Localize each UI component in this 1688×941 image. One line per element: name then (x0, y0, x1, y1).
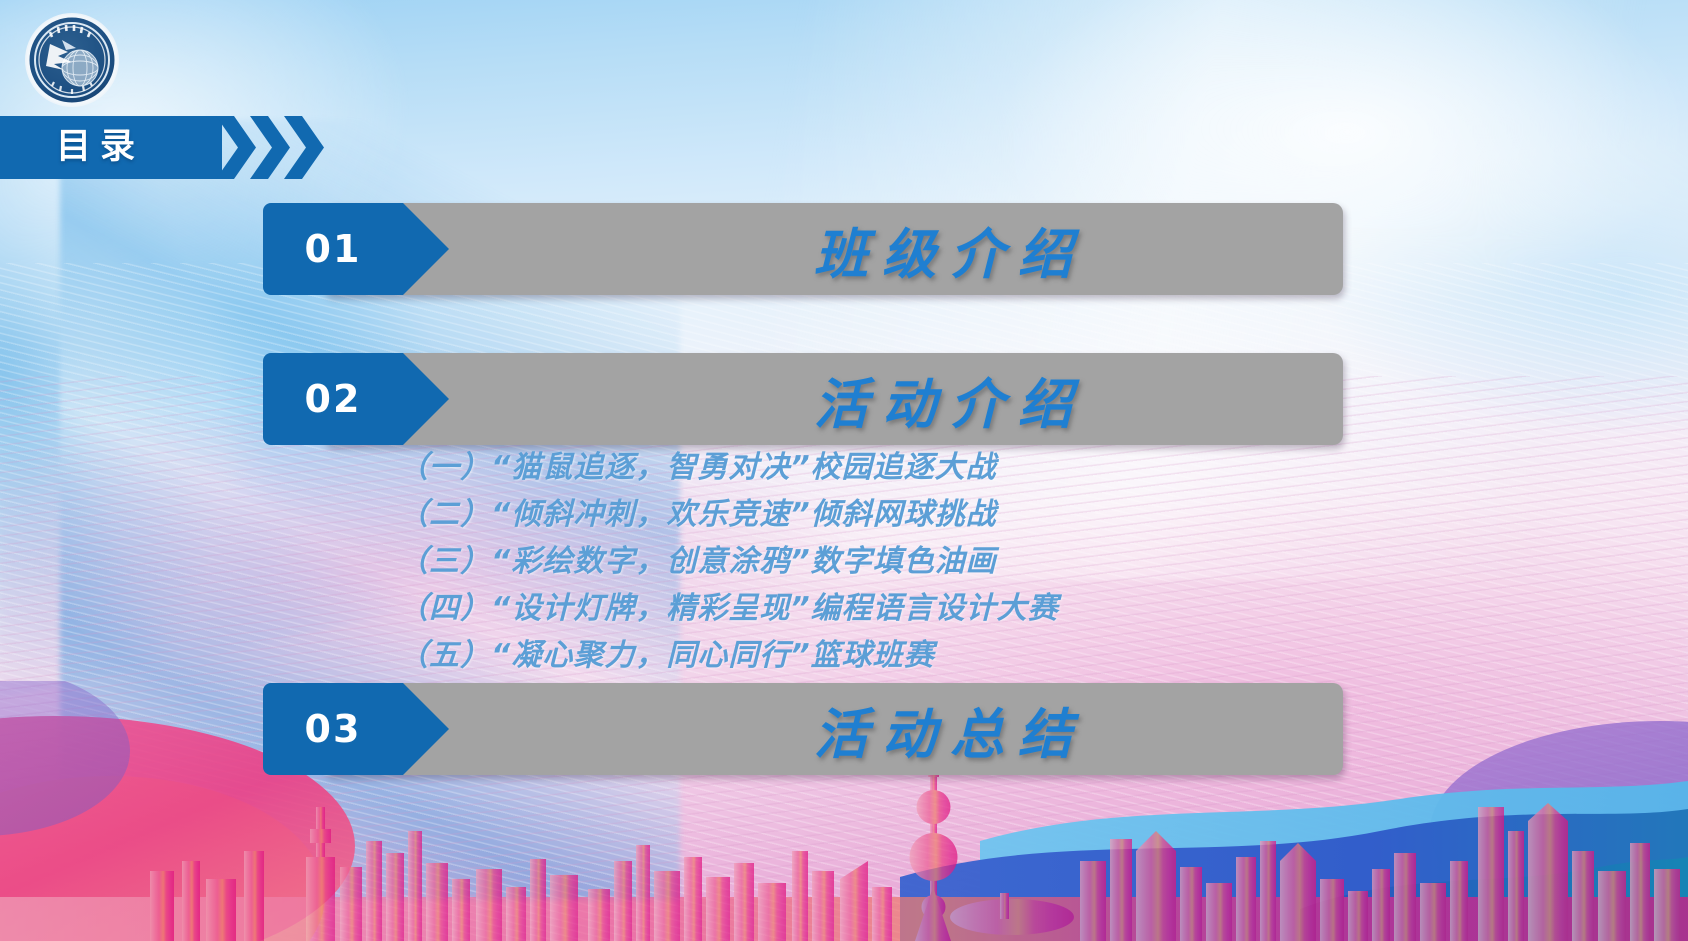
toc-title: 目录 (56, 116, 144, 179)
section-title-03: 活动总结 (593, 683, 1293, 775)
toc-section-row-03[interactable]: 03 活动总结 (263, 683, 1343, 775)
activity-item-2[interactable]: （二）“倾斜冲刺，欢乐竞速”倾斜网球挑战 (263, 491, 1413, 538)
school-emblem-logo (20, 8, 124, 112)
toc-section-row-02[interactable]: 02 活动介绍 (263, 353, 1343, 445)
toc-banner: 目录 (0, 116, 322, 179)
activity-item-5[interactable]: （五）“凝心聚力，同心同行”篮球班赛 (263, 632, 1413, 679)
section-title-01: 班级介绍 (593, 203, 1293, 295)
section-number-03: 03 (263, 683, 403, 775)
section-number-01: 01 (263, 203, 403, 295)
toc-section-row-01[interactable]: 01 班级介绍 (263, 203, 1343, 295)
chevron-right-icon-3 (284, 116, 324, 179)
presentation-slide: 目录 01 班级介绍 02 活动介绍 （一）“ (0, 0, 1688, 941)
section-title-02: 活动介绍 (593, 353, 1293, 445)
activity-item-3[interactable]: （三）“彩绘数字，创意涂鸦”数字填色油画 (263, 538, 1413, 585)
activity-item-4[interactable]: （四）“设计灯牌，精彩呈现”编程语言设计大赛 (263, 585, 1413, 632)
section-number-02: 02 (263, 353, 403, 445)
activity-sublist: （一）“猫鼠追逐，智勇对决”校园追逐大战 （二）“倾斜冲刺，欢乐竞速”倾斜网球挑… (263, 444, 1413, 679)
activity-item-1[interactable]: （一）“猫鼠追逐，智勇对决”校园追逐大战 (263, 444, 1413, 491)
